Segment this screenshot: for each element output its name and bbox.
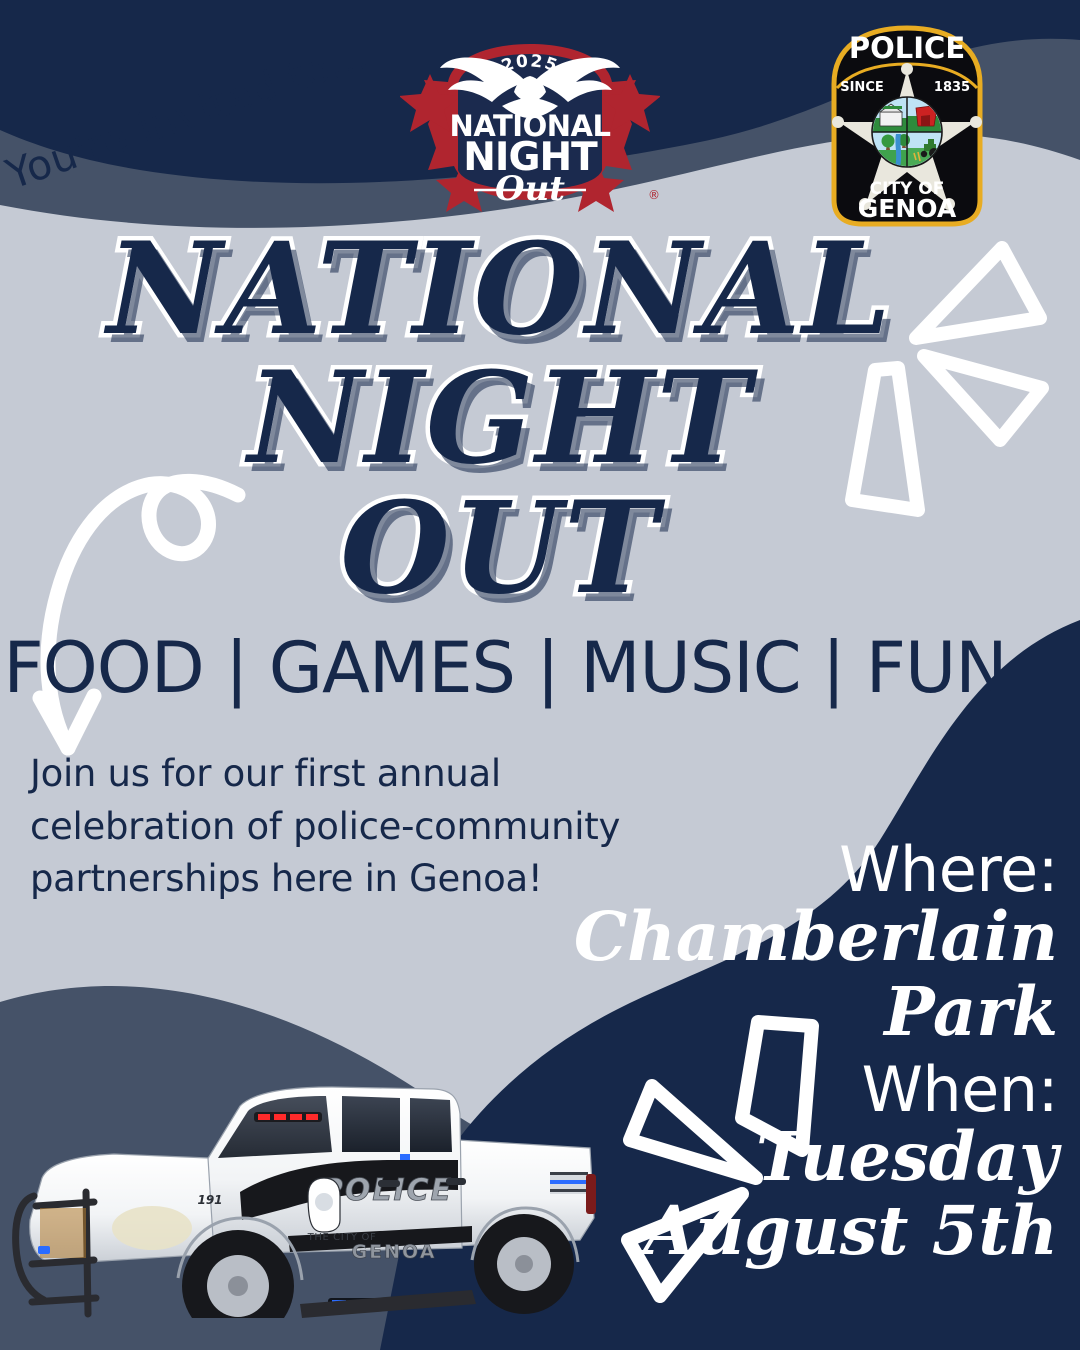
truck-flag-decal xyxy=(550,1172,588,1194)
genoa-police-badge: POLICE SINCE 1835 xyxy=(818,22,996,234)
truck-unit-number: 191 xyxy=(197,1193,222,1207)
tagline: FOOD | GAMES | MUSIC | FUN xyxy=(0,627,1010,709)
where-value-line-2: Park xyxy=(498,978,1058,1046)
national-night-out-logo: 2025 NATIONAL NIGHT Out ® xyxy=(400,20,660,220)
truck-city-name: GENOA xyxy=(352,1241,437,1263)
truck-front-handle xyxy=(378,1180,400,1187)
badge-graphic: POLICE SINCE 1835 xyxy=(818,22,996,234)
badge-top-text: POLICE xyxy=(849,31,965,65)
truck-red-lightbar xyxy=(254,1112,322,1122)
truck-front-window xyxy=(342,1096,400,1152)
truck-door-badge-icon xyxy=(308,1178,340,1232)
badge-since-text: SINCE xyxy=(840,80,884,95)
where-label: Where: xyxy=(498,838,1058,901)
truck-rear-handle xyxy=(446,1178,466,1185)
body-line-1: Join us for our first annual xyxy=(30,748,730,801)
city-seal-icon xyxy=(872,97,942,167)
where-value-line-1: Chamberlain xyxy=(498,903,1058,971)
truck-taillight xyxy=(586,1174,596,1214)
truck-running-board xyxy=(300,1290,476,1318)
truck-headlight xyxy=(112,1206,192,1250)
flyer-canvas: 2025 NATIONAL NIGHT Out ® POLICE SINCE 1… xyxy=(0,0,1080,1350)
truck-police-text: POLICE xyxy=(321,1173,453,1208)
registered-trademark-mark: ® xyxy=(648,188,660,202)
badge-city-line-2: GENOA xyxy=(858,194,957,223)
truck-rear-window xyxy=(410,1098,452,1152)
truck-rear-wheel xyxy=(474,1214,574,1314)
nno-logo-graphic: 2025 NATIONAL NIGHT Out xyxy=(400,20,660,220)
police-truck-graphic: POLICE 191 THE CITY OF GENOA xyxy=(2,1068,622,1318)
badge-year-text: 1835 xyxy=(934,80,970,95)
police-truck-photo: POLICE 191 THE CITY OF GENOA xyxy=(2,1068,622,1318)
